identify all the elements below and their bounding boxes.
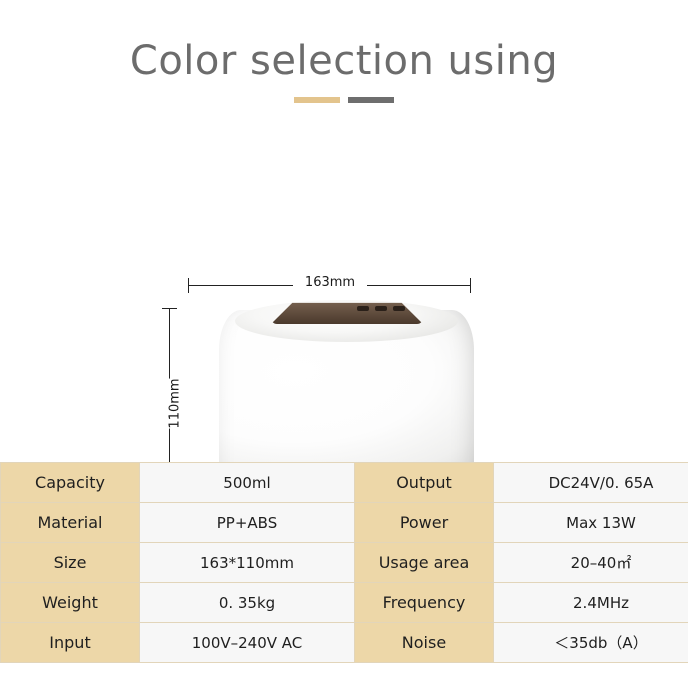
underline-dash-gray [348, 97, 394, 103]
table-row: Size 163*110mm Usage area 20–40㎡ [1, 543, 688, 583]
spec-value: 2.4MHz [494, 583, 688, 623]
spec-value: PP+ABS [140, 503, 355, 543]
width-dimension-cap-left [188, 278, 189, 293]
height-dimension-label: 110mm [164, 378, 187, 428]
diffuser-vent-slot [375, 306, 387, 311]
spec-label: Noise [355, 623, 494, 663]
spec-label: Capacity [1, 463, 140, 503]
diffuser-vent-slot [357, 306, 369, 311]
diffuser-top-plate [271, 300, 423, 324]
page-title: Color selection using [0, 38, 688, 84]
product-spec-page: Color selection using 163mm 110mm [0, 0, 688, 688]
product-diagram: 163mm 110mm [0, 130, 688, 448]
underline-dash-gold [294, 97, 340, 103]
spec-value: 0. 35kg [140, 583, 355, 623]
spec-label: Input [1, 623, 140, 663]
spec-label: Size [1, 543, 140, 583]
table-row: Capacity 500ml Output DC24V/0. 65A [1, 463, 688, 503]
spec-value: 100V–240V AC [140, 623, 355, 663]
diffuser-vent-slot [393, 306, 405, 311]
title-underline [0, 97, 688, 103]
table-row: Weight 0. 35kg Frequency 2.4MHz [1, 583, 688, 623]
spec-value: 500ml [140, 463, 355, 503]
spec-value: 20–40㎡ [494, 543, 688, 583]
specification-table: Capacity 500ml Output DC24V/0. 65A Mater… [0, 462, 688, 663]
spec-label: Output [355, 463, 494, 503]
width-dimension-label: 163mm [293, 275, 367, 290]
width-dimension-cap-right [470, 278, 471, 293]
spec-label: Weight [1, 583, 140, 623]
spec-label: Material [1, 503, 140, 543]
spec-label: Usage area [355, 543, 494, 583]
spec-label: Frequency [355, 583, 494, 623]
spec-value: ＜35db（A） [494, 623, 688, 663]
height-dimension-cap-top [162, 308, 177, 309]
spec-label: Power [355, 503, 494, 543]
table-row: Input 100V–240V AC Noise ＜35db（A） [1, 623, 688, 663]
spec-value: Max 13W [494, 503, 688, 543]
table-row: Material PP+ABS Power Max 13W [1, 503, 688, 543]
spec-value: 163*110mm [140, 543, 355, 583]
spec-value: DC24V/0. 65A [494, 463, 688, 503]
